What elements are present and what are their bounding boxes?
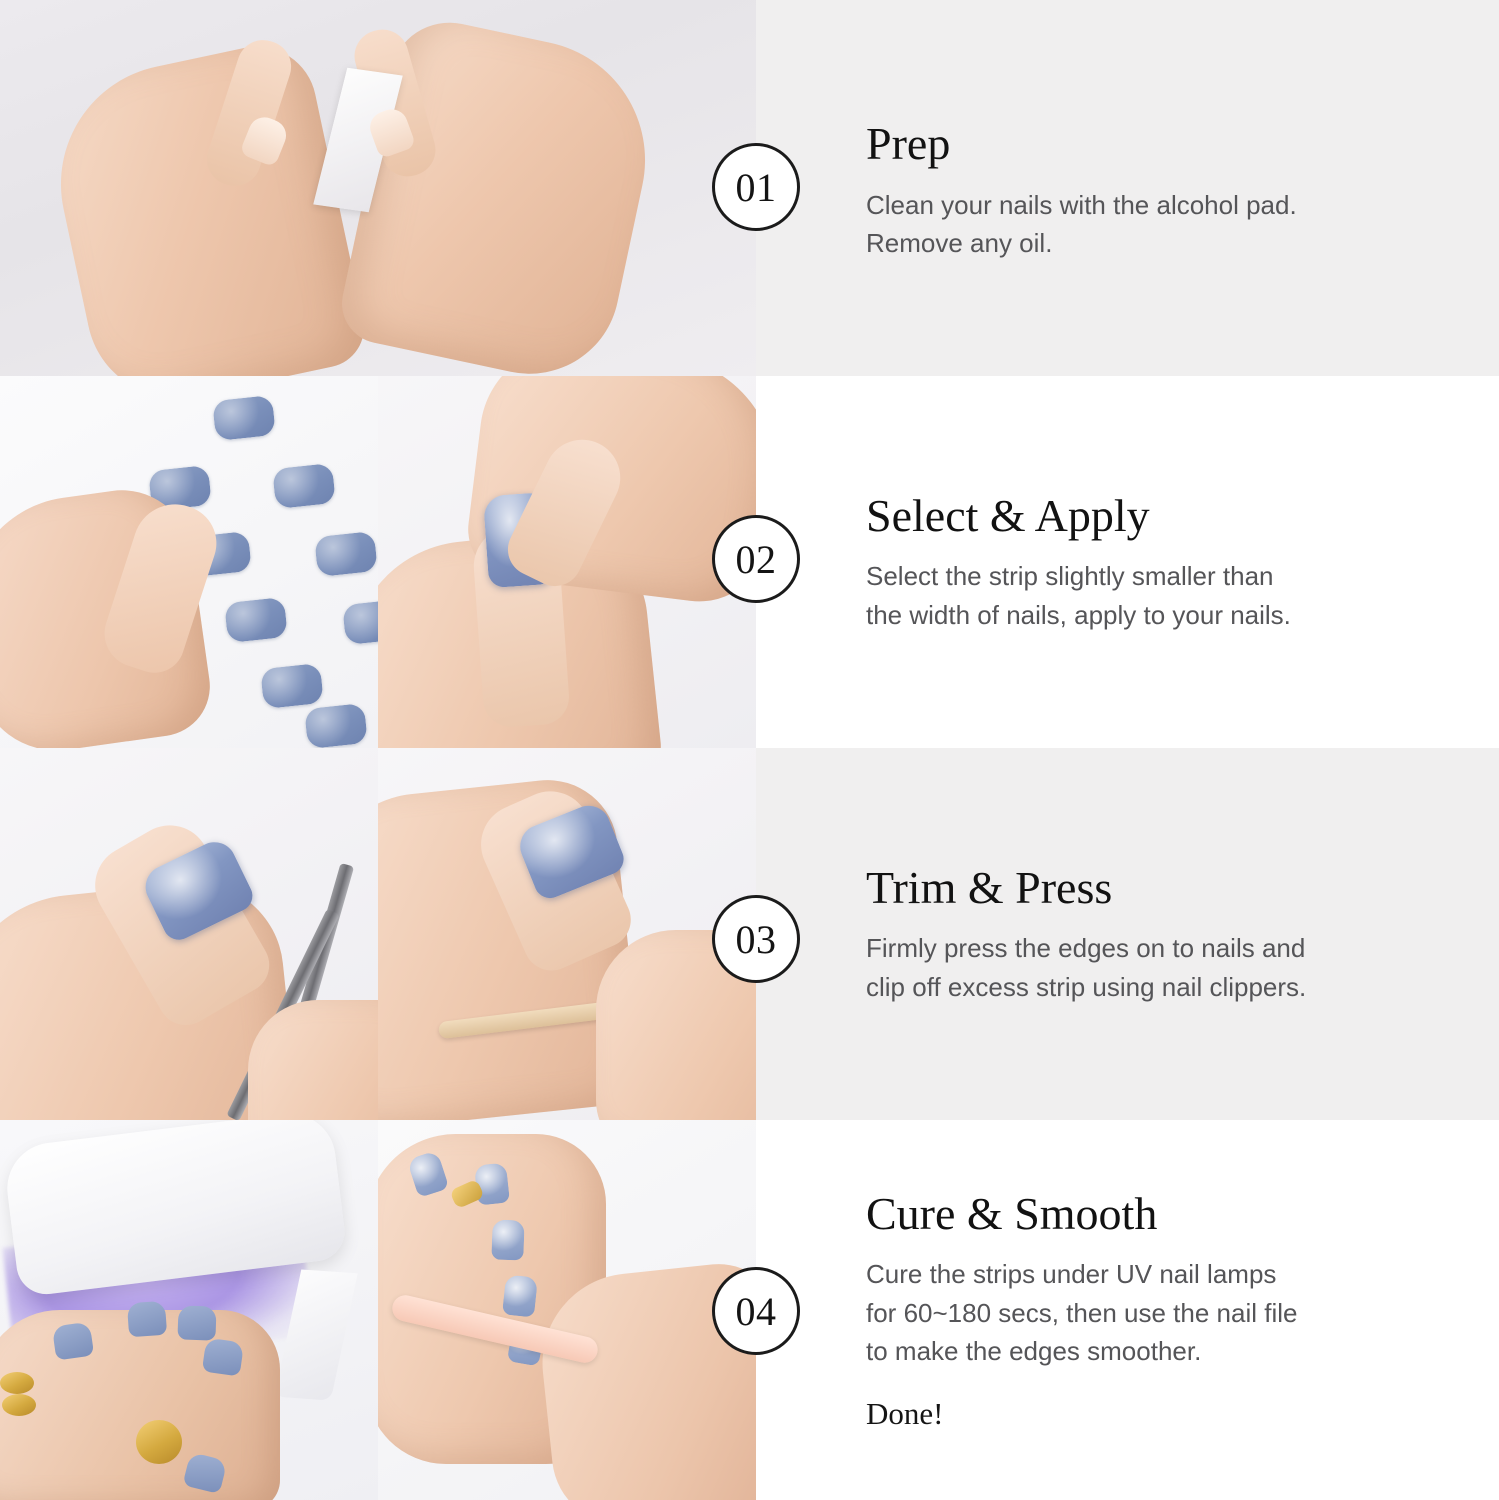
photo-hand-under-uv-lamp [0,1120,378,1500]
nail-strip [212,395,276,441]
step-title-04: Cure & Smooth [866,1188,1439,1240]
text-panel-step-01: Prep Clean your nails with the alcohol p… [756,0,1499,376]
step-number-04: 04 [736,1288,777,1335]
step-badge-04: 04 [712,1267,800,1355]
gold-ring [0,1372,34,1394]
done-label: Done! [866,1396,1439,1432]
photo-hands-holding-alcohol-pad [0,0,756,376]
nail-strip [342,599,378,645]
text-panel-step-04: Cure & Smooth Cure the strips under UV n… [756,1120,1499,1500]
step-description-02: Select the strip slightly smaller than t… [866,557,1439,634]
photo-area-step-01 [0,0,756,376]
step-description-line-1: Firmly press the edges on to nails and [866,933,1305,963]
left-hand-shape [39,36,372,376]
nail-strip [304,703,368,748]
step-row-01: 01 Prep Clean your nails with the alcoho… [0,0,1499,376]
nail-strip [272,463,336,509]
nail-strip [224,597,288,643]
step-number-03: 03 [736,916,777,963]
nail-strip [260,663,324,709]
step-row-03: 03 Trim & Press Firmly press the edges o… [0,748,1499,1120]
nail-strip [314,531,378,577]
text-panel-step-02: Select & Apply Select the strip slightly… [756,376,1499,748]
photo-smoothing-edges-with-nail-file [378,1120,756,1500]
step-title-02: Select & Apply [866,490,1439,542]
cured-nail [127,1301,167,1338]
step-description-line-2: Remove any oil. [866,228,1052,258]
photo-applying-strip-to-nail [378,376,756,748]
step-description-line-1: Select the strip slightly smaller than [866,561,1274,591]
step-row-04: 04 Cure & Smooth Cure the strips under U… [0,1120,1499,1500]
step-description-line-2: for 60~180 secs, then use the nail file [866,1298,1297,1328]
step-description-01: Clean your nails with the alcohol pad. R… [866,186,1439,263]
cured-nail [202,1338,244,1377]
step-title-03: Trim & Press [866,862,1439,914]
finished-nail [502,1274,538,1317]
step-row-02: 02 Select & Apply Select the strip sligh… [0,376,1499,748]
step-number-01: 01 [736,164,777,211]
photo-trimming-strip-with-scissors [0,748,378,1120]
step-badge-02: 02 [712,515,800,603]
step-badge-01: 01 [712,143,800,231]
photo-sheet-of-blue-nail-strips [0,376,378,748]
hand-under-lamp [0,1310,280,1500]
nail-strips-guide: 01 Prep Clean your nails with the alcoho… [0,0,1499,1500]
photo-area-step-04 [0,1120,756,1500]
gold-statement-ring [136,1420,182,1464]
step-number-02: 02 [736,536,777,583]
cured-nail [52,1322,94,1361]
step-description-03: Firmly press the edges on to nails and c… [866,929,1439,1006]
finished-nail [491,1219,524,1260]
step-badge-03: 03 [712,895,800,983]
text-panel-step-03: Trim & Press Firmly press the edges on t… [756,748,1499,1120]
step-title-01: Prep [866,118,1439,170]
step-description-line-1: Clean your nails with the alcohol pad. [866,190,1297,220]
step-description-line-3: to make the edges smoother. [866,1336,1201,1366]
step-description-line-2: clip off excess strip using nail clipper… [866,972,1306,1002]
gold-ring [2,1394,36,1416]
photo-area-step-03 [0,748,756,1120]
step-description-line-2: the width of nails, apply to your nails. [866,600,1291,630]
cured-nail [177,1305,216,1340]
step-description-line-1: Cure the strips under UV nail lamps [866,1259,1276,1289]
photo-pressing-edges-with-cuticle-stick [378,748,756,1120]
photo-area-step-02 [0,376,756,748]
step-description-04: Cure the strips under UV nail lamps for … [866,1255,1439,1370]
